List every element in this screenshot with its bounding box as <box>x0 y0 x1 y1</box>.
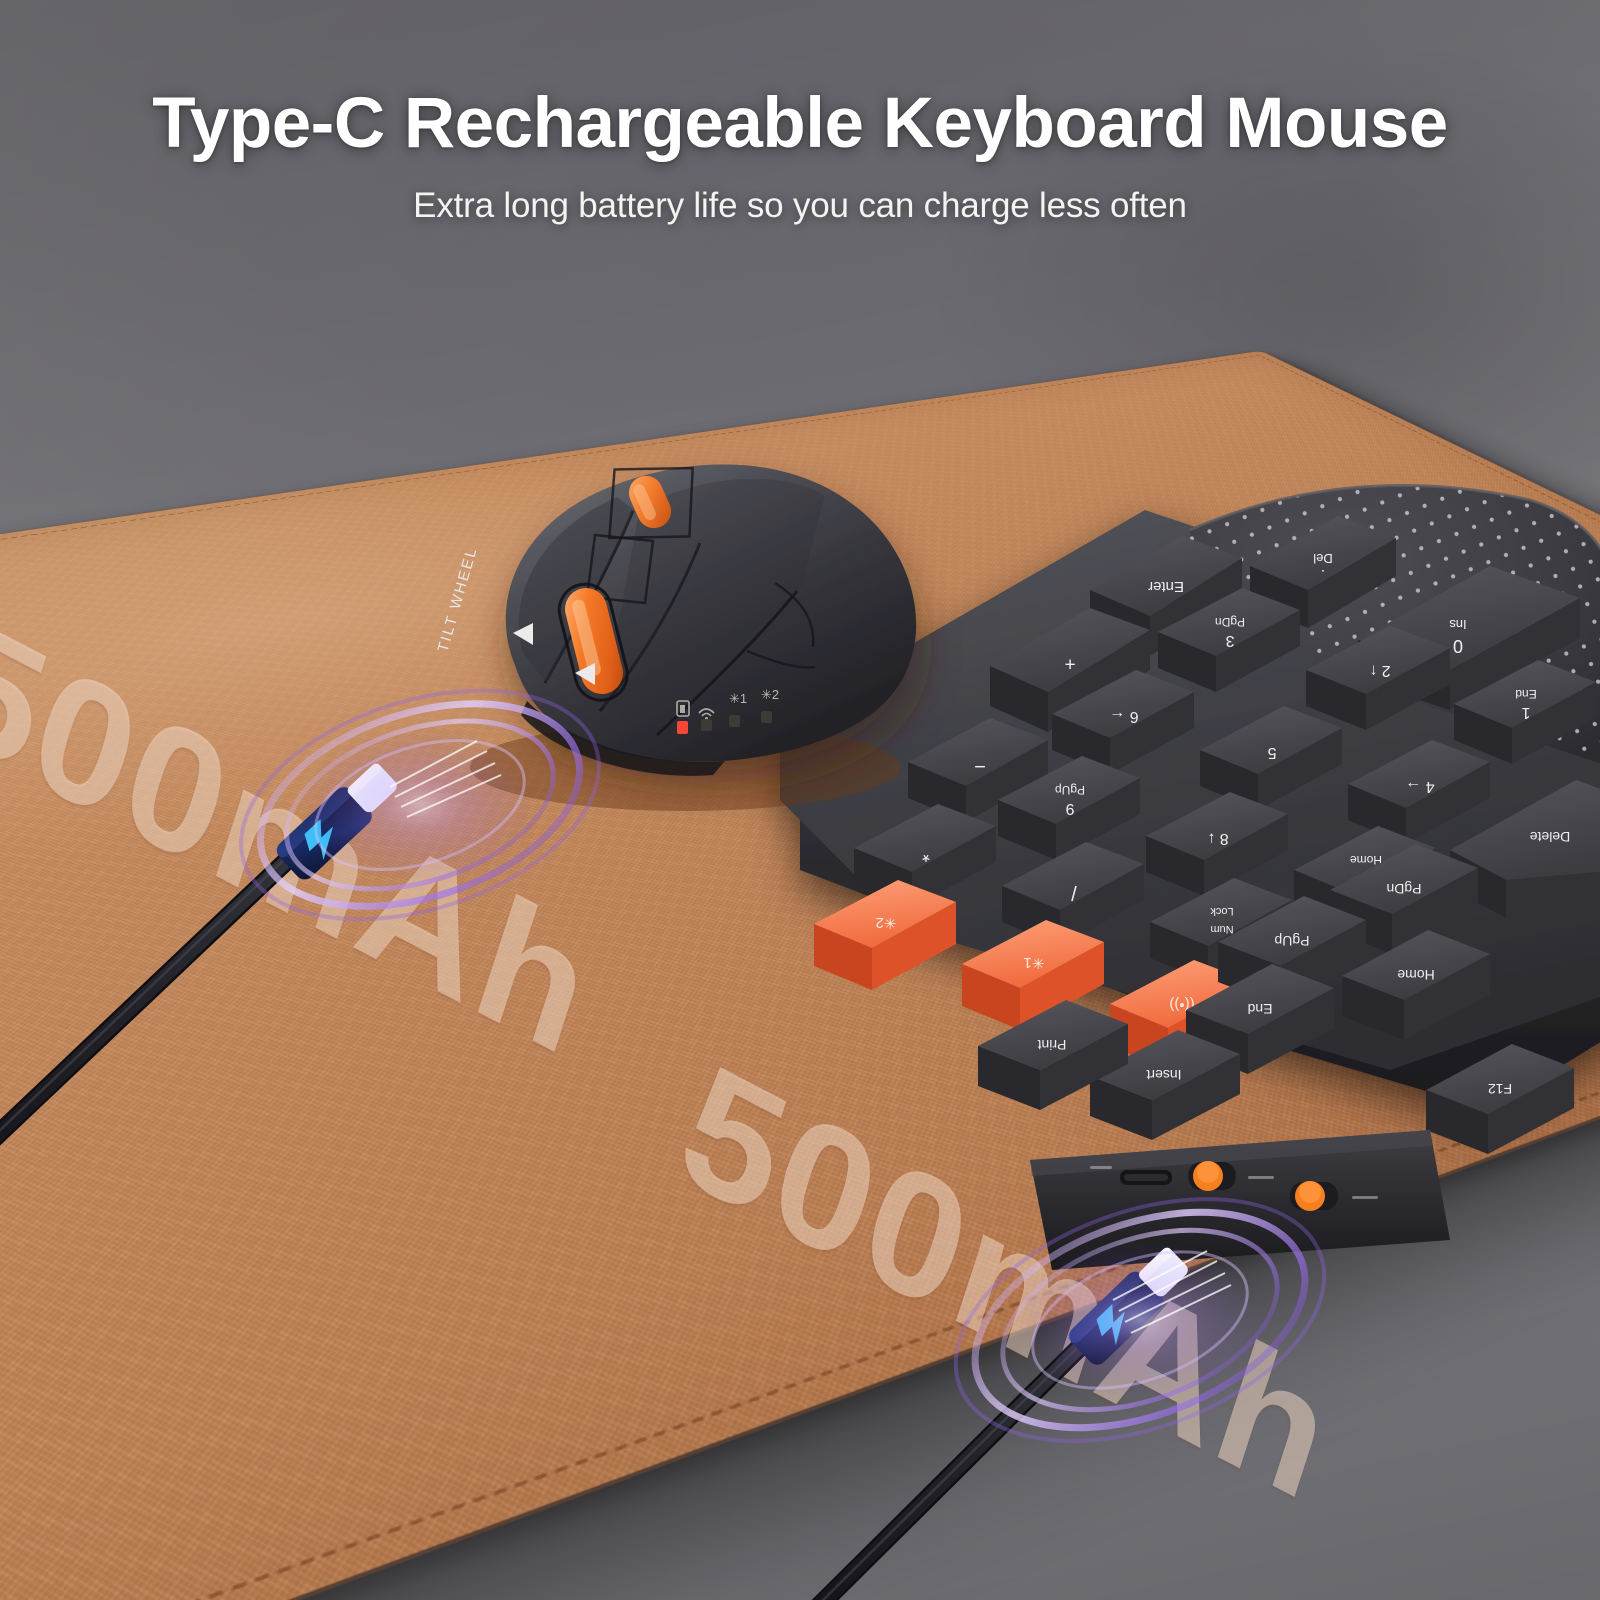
svg-text:9: 9 <box>1065 800 1074 817</box>
svg-text:Num: Num <box>1210 923 1233 935</box>
svg-text:Enter: Enter <box>1148 578 1184 595</box>
svg-text:Ins: Ins <box>1449 617 1467 632</box>
page-subtitle: Extra long battery life so you can charg… <box>0 186 1600 226</box>
svg-text:.: . <box>1321 566 1325 583</box>
svg-text:4 →: 4 → <box>1405 778 1434 795</box>
svg-text:PgUp: PgUp <box>1274 933 1309 949</box>
svg-text:2 ↑: 2 ↑ <box>1369 662 1390 679</box>
svg-text:*: * <box>922 843 930 865</box>
svg-text:Insert: Insert <box>1146 1067 1181 1083</box>
keyboard-charging-cable <box>760 1255 1320 1600</box>
marketing-text-block: Type-C Rechargeable Keyboard Mouse Extra… <box>0 88 1600 226</box>
mode-switch[interactable] <box>1290 1181 1338 1211</box>
led-bt1 <box>729 715 740 727</box>
svg-text:Home: Home <box>1397 967 1435 983</box>
tilt-wheel-label: TILT WHEEL <box>435 545 481 654</box>
led-bt2 <box>761 711 772 723</box>
svg-text:F12: F12 <box>1488 1081 1512 1097</box>
svg-text:PgDn: PgDn <box>1215 615 1245 629</box>
page-title: Type-C Rechargeable Keyboard Mouse <box>0 88 1600 160</box>
svg-text:Print: Print <box>1038 1037 1067 1053</box>
svg-text:✳1: ✳1 <box>729 691 747 706</box>
svg-text:Delete: Delete <box>1530 829 1571 845</box>
svg-text:−: − <box>974 755 986 777</box>
led-24g <box>701 719 712 731</box>
svg-text:End: End <box>1248 1001 1273 1017</box>
svg-text:✳2: ✳2 <box>876 914 897 931</box>
svg-text:/: / <box>1071 881 1077 903</box>
svg-text:Del: Del <box>1313 551 1333 566</box>
power-switch[interactable] <box>1188 1161 1236 1191</box>
svg-text:✳1: ✳1 <box>1024 954 1045 971</box>
svg-text:8 ↓: 8 ↓ <box>1207 830 1228 847</box>
svg-text:0: 0 <box>1453 636 1463 656</box>
svg-text:+: + <box>1064 653 1075 674</box>
svg-text:6 ←: 6 ← <box>1109 708 1138 725</box>
svg-text:3: 3 <box>1225 632 1234 649</box>
svg-text:1: 1 <box>1521 704 1530 721</box>
svg-text:PgDn: PgDn <box>1386 881 1421 897</box>
mouse-charging-cable <box>0 740 500 1200</box>
keyboard-side-panel[interactable] <box>1030 1130 1450 1270</box>
svg-text:5: 5 <box>1267 744 1276 761</box>
svg-text:Lock: Lock <box>1210 905 1234 917</box>
svg-text:PgUp: PgUp <box>1055 783 1085 797</box>
bluetooth-2-key[interactable]: ✳2 <box>814 880 956 990</box>
svg-text:End: End <box>1515 687 1536 701</box>
product-scene: 500mAh 500mAh <box>0 0 1600 1600</box>
svg-text:✳2: ✳2 <box>761 687 779 702</box>
